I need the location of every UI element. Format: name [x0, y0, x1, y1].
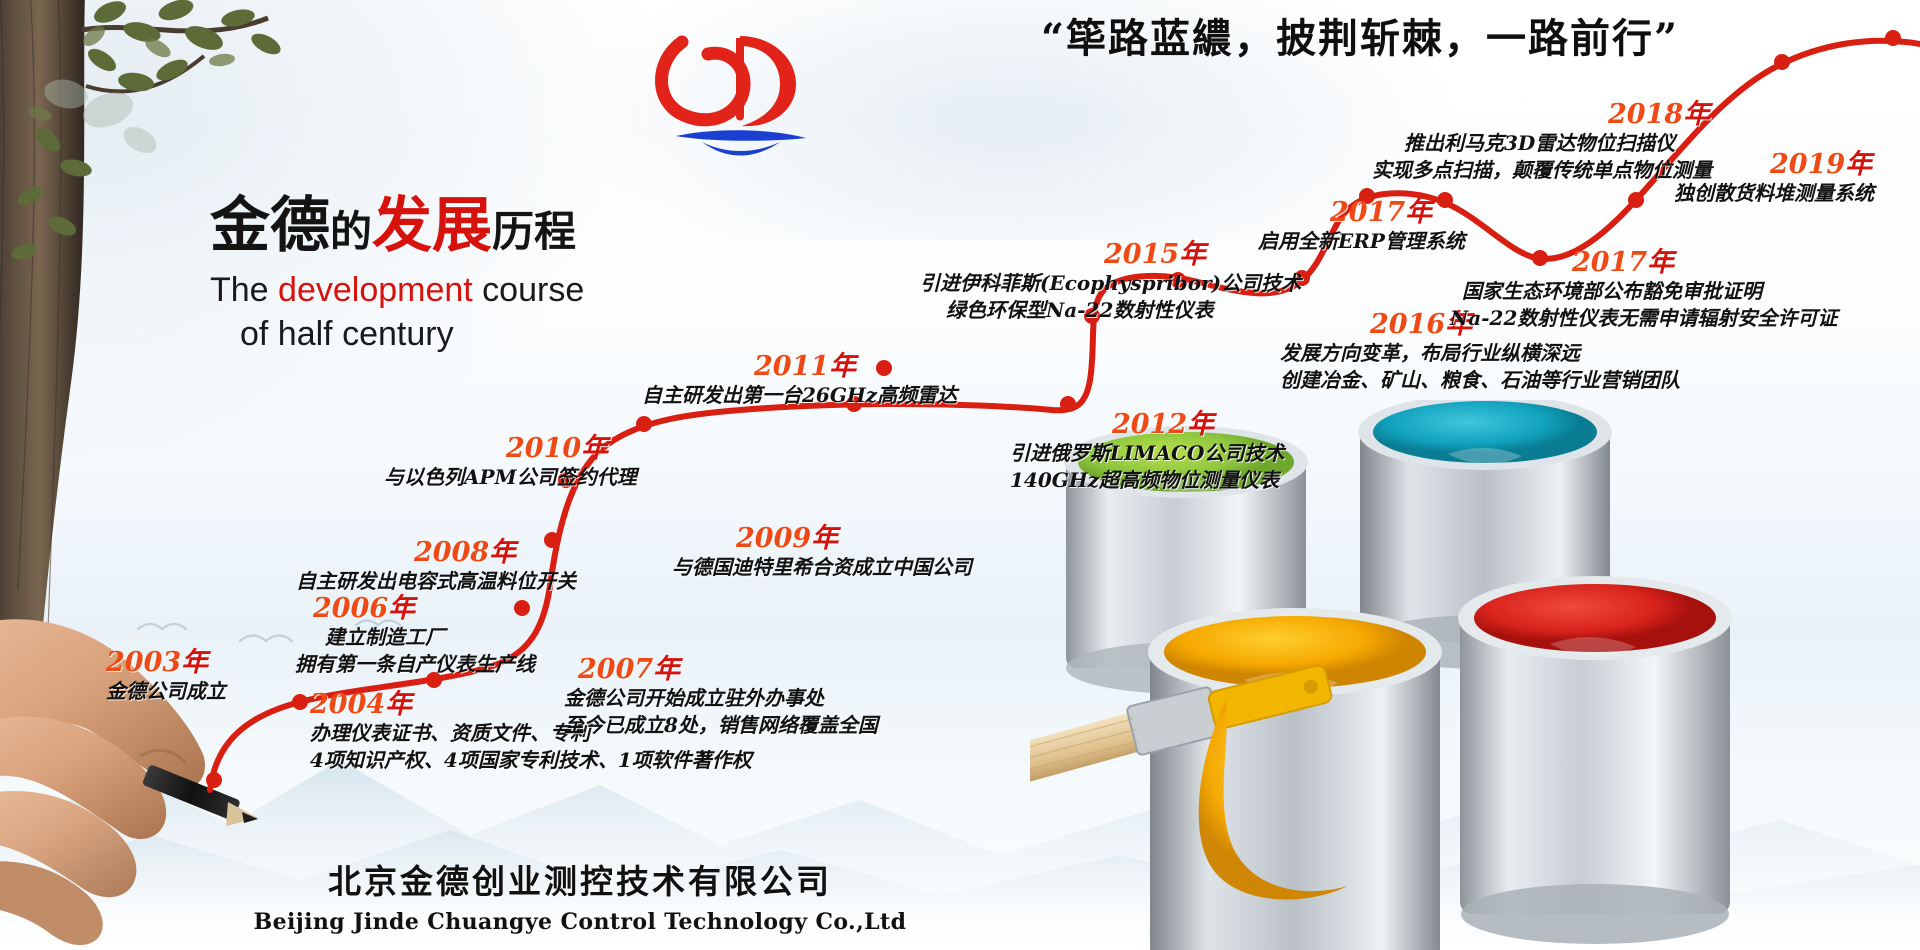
event-desc-2017-cert-line1: 国家生态环境部公布豁免审批证明: [1450, 278, 1837, 305]
subtitle-line2: of half century: [210, 312, 770, 356]
event-year-2011: 2011年: [642, 352, 957, 382]
jinde-logo: [640, 18, 840, 158]
timeline-event-2010[interactable]: 2010年 与以色列APM公司签约代理: [384, 434, 637, 491]
event-year-2006: 2006年: [313, 594, 535, 624]
timeline-event-2011[interactable]: 2011年 自主研发出第一台26GHz高频雷达: [642, 352, 957, 409]
event-year-2007: 2007年: [564, 655, 878, 685]
event-desc-2011-line1: 自主研发出第一台26GHz高频雷达: [642, 382, 957, 409]
timeline-event-2009[interactable]: 2009年 与德国迪特里希合资成立中国公司: [672, 524, 972, 581]
event-year-2003: 2003年: [106, 648, 226, 678]
company-name-en: Beijing Jinde Chuangye Control Technolog…: [0, 909, 1160, 935]
event-desc-2017-cert-line2: Na-22数射性仪表无需申请辐射安全许可证: [1450, 305, 1837, 332]
footer-block: 北京金德创业测控技术有限公司 Beijing Jinde Chuangye Co…: [0, 855, 1160, 935]
title-cn-part3: 发展: [372, 191, 492, 261]
event-year-2012: 2012年: [1010, 410, 1284, 440]
slogan-text: “筚路蓝繷，披荆斩棘，一路前行”: [955, 6, 1765, 64]
event-desc-2006-line2: 拥有第一条自产仪表生产线: [295, 651, 535, 678]
event-desc-2016-line2: 创建冶金、矿山、粮食、石油等行业营销团队: [1280, 367, 1680, 394]
timeline-event-2006[interactable]: 2006年 建立制造工厂 拥有第一条自产仪表生产线: [313, 594, 535, 678]
page-subtitle: The development courseof half century: [210, 268, 770, 356]
event-desc-2015-line2: 绿色环保型Na-22数射性仪表: [920, 297, 1301, 324]
event-desc-2007-line1: 金德公司开始成立驻外办事处: [564, 685, 878, 712]
event-desc-2012-line2: 140GHz超高频物位测量仪表: [1010, 467, 1284, 494]
event-desc-2003-line1: 金德公司成立: [106, 678, 226, 705]
event-desc-2018-line2: 实现多点扫描，颠覆传统单点物位测量: [1372, 157, 1712, 184]
event-year-2018: 2018年: [1372, 100, 1712, 130]
event-desc-2017-erp-line1: 启用全新ERP管理系统: [1258, 228, 1465, 255]
event-desc-2004-line2: 4项知识产权、4项国家专利技术、1项软件著作权: [310, 747, 752, 774]
event-desc-2019-line1: 独创散货料堆测量系统: [1674, 180, 1874, 207]
timeline-event-2019[interactable]: 2019年 独创散货料堆测量系统: [1674, 150, 1874, 207]
event-desc-2008-line1: 自主研发出电容式高温料位开关: [296, 568, 576, 595]
event-desc-2018-line1: 推出利马克3D雷达物位扫描仪: [1372, 130, 1712, 157]
event-desc-2009-line1: 与德国迪特里希合资成立中国公司: [672, 554, 972, 581]
event-year-2008: 2008年: [296, 538, 576, 568]
event-desc-2015-line1: 引进伊科菲斯(Ecophyspribor)公司技术: [920, 270, 1301, 297]
timeline-event-2015[interactable]: 2015年 引进伊科菲斯(Ecophyspribor)公司技术 绿色环保型Na-…: [920, 240, 1301, 324]
page-title: 金德的发展历程: [210, 195, 770, 258]
event-year-2010: 2010年: [384, 434, 637, 464]
subtitle-part-the: The: [210, 271, 278, 309]
event-year-2019: 2019年: [1674, 150, 1874, 180]
timeline-event-2017-erp[interactable]: 2017年 启用全新ERP管理系统: [1258, 198, 1465, 255]
event-year-2015: 2015年: [920, 240, 1301, 270]
timeline-event-2008[interactable]: 2008年 自主研发出电容式高温料位开关: [296, 538, 576, 595]
timeline-event-2017-cert[interactable]: 2017年 国家生态环境部公布豁免审批证明 Na-22数射性仪表无需申请辐射安全…: [1450, 248, 1837, 332]
event-year-2017-erp: 2017年: [1258, 198, 1465, 228]
event-desc-2007-line2: 至今已成立8处，销售网络覆盖全国: [564, 712, 878, 739]
timeline-event-2018[interactable]: 2018年 推出利马克3D雷达物位扫描仪 实现多点扫描，颠覆传统单点物位测量: [1372, 100, 1712, 184]
title-cn-part1: 金德: [210, 191, 330, 261]
event-desc-2010-line1: 与以色列APM公司签约代理: [384, 464, 637, 491]
timeline-event-2003[interactable]: 2003年 金德公司成立: [106, 648, 226, 705]
title-block: 金德的发展历程 The development courseof half ce…: [210, 195, 770, 356]
subtitle-part-course: course: [473, 271, 585, 309]
title-cn-part4: 历程: [492, 207, 576, 256]
company-name-cn: 北京金德创业测控技术有限公司: [0, 855, 1160, 903]
title-cn-part2: 的: [330, 207, 372, 256]
poster-canvas: “筚路蓝繷，披荆斩棘，一路前行” 金德的发展历程 The development…: [0, 0, 1920, 950]
timeline-event-2007[interactable]: 2007年 金德公司开始成立驻外办事处 至今已成立8处，销售网络覆盖全国: [564, 655, 878, 739]
event-year-2009: 2009年: [672, 524, 972, 554]
event-desc-2016-line1: 发展方向变革，布局行业纵横深远: [1280, 340, 1680, 367]
subtitle-part-development: development: [278, 271, 473, 309]
event-desc-2012-line1: 引进俄罗斯LIMACO公司技术: [1010, 440, 1284, 467]
timeline-event-2012[interactable]: 2012年 引进俄罗斯LIMACO公司技术 140GHz超高频物位测量仪表: [1010, 410, 1284, 494]
event-year-2017-cert: 2017年: [1450, 248, 1837, 278]
event-desc-2006-line1: 建立制造工厂: [313, 624, 535, 651]
